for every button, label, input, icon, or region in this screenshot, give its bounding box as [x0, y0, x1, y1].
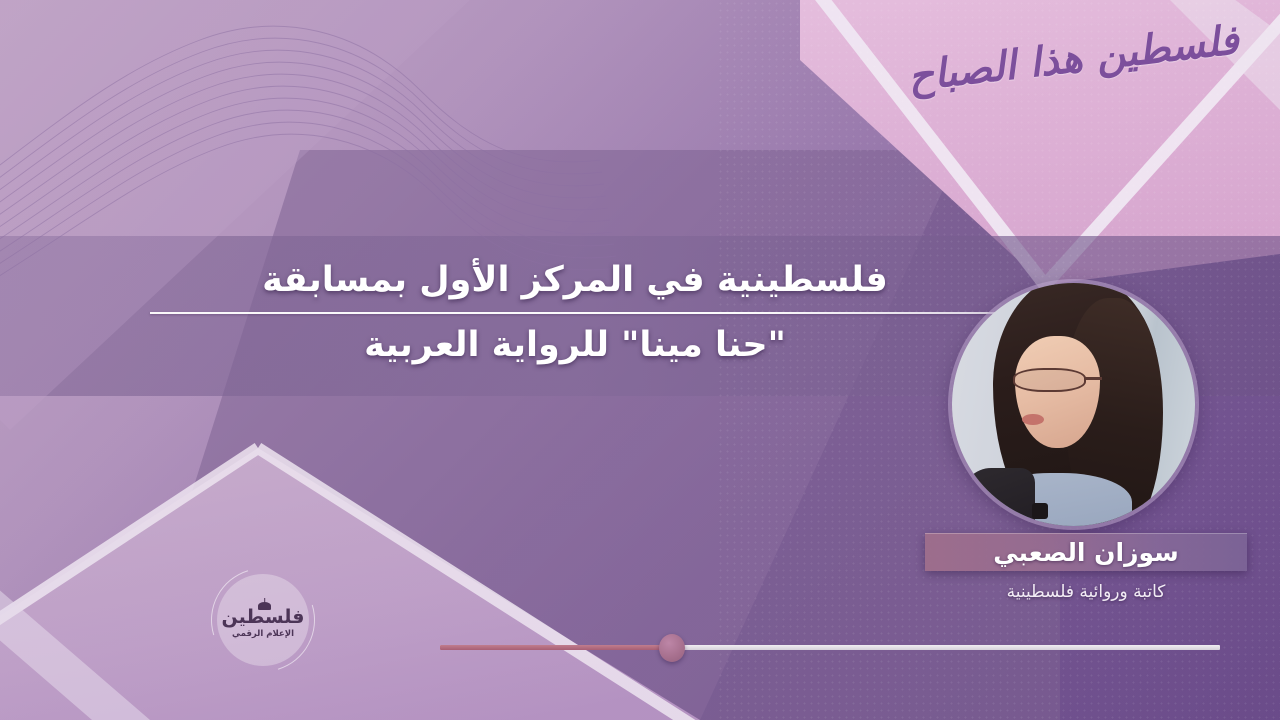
- logo-wordmark: فلسطين: [222, 608, 305, 627]
- headline-line-1: فلسطينية في المركز الأول بمسابقة: [150, 258, 1000, 303]
- glasses-icon: [1013, 368, 1086, 392]
- guest-role-text: كاتبة وروائية فلسطينية: [925, 582, 1247, 602]
- headline-divider: [150, 312, 998, 314]
- guest-jacket: [962, 468, 1035, 526]
- guest-name-banner: سوزان الصعبي: [925, 533, 1247, 571]
- video-progress-bar[interactable]: [440, 644, 1220, 651]
- headline-block: فلسطينية في المركز الأول بمسابقة "حنا مي…: [150, 258, 1000, 368]
- logo-content: فلسطين الإعلام الرقمي: [217, 574, 309, 666]
- channel-logo-watermark: فلسطين الإعلام الرقمي: [217, 574, 309, 666]
- guest-name-text: سوزان الصعبي: [993, 538, 1178, 567]
- logo-tagline: الإعلام الرقمي: [232, 630, 294, 639]
- guest-photo: [952, 283, 1195, 526]
- lapel-mic-icon: [1032, 503, 1048, 519]
- broadcast-graphic-stage: فلسطين هذا الصباح فلسطينية في المركز الأ…: [0, 0, 1280, 720]
- dome-of-the-rock-icon: [258, 602, 271, 610]
- headline-line-2: "حنا مينا" للرواية العربية: [150, 323, 1000, 368]
- progress-fill: [440, 645, 672, 650]
- guest-photo-image: [952, 283, 1195, 526]
- progress-knob-handle[interactable]: [659, 634, 685, 662]
